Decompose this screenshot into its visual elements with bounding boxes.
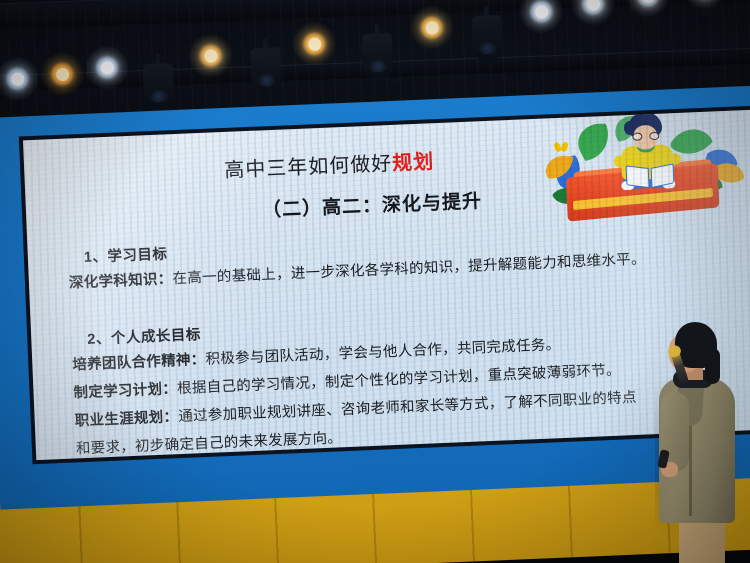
stage-light-fixture-1 (143, 63, 175, 108)
line-lead: 职业生涯规划： (74, 409, 178, 429)
line-lead: 培养团队合作精神： (72, 352, 206, 374)
presentation-slide: 高中三年如何做好规划 （二）高二：深化与提升 1、学习目标 深化学科知识：在高一… (23, 109, 750, 460)
stage-light-1 (5, 66, 30, 91)
line-lead: 制定学习计划： (73, 381, 177, 401)
glasses-icon (632, 132, 659, 141)
screen-bezel: 高中三年如何做好规划 （二）高二：深化与提升 1、学习目标 深化学科知识：在高一… (19, 104, 750, 464)
led-screen-assembly: 高中三年如何做好规划 （二）高二：深化与提升 1、学习目标 深化学科知识：在高一… (0, 85, 750, 510)
stage-light-7 (529, 0, 554, 24)
stage-light-8 (580, 0, 605, 16)
line-text: 在高一的基础上，进一步深化各学科的知识，提升解题能力和思维水平。 (172, 251, 646, 287)
led-panel: 高中三年如何做好规划 （二）高二：深化与提升 1、学习目标 深化学科知识：在高一… (23, 109, 750, 460)
line-lead: 深化学科知识： (69, 271, 173, 291)
butterfly-icon (555, 142, 568, 153)
slide-title-highlight: 规划 (392, 151, 435, 175)
stage-light-3 (94, 55, 119, 80)
stage-light-4 (198, 43, 223, 68)
auditorium-scene: 高中三年如何做好规划 （二）高二：深化与提升 1、学习目标 深化学科知识：在高一… (0, 0, 750, 563)
stage-light-fixture-2 (250, 47, 282, 92)
stage-light-9 (635, 0, 660, 8)
presenter-figure (655, 322, 750, 563)
stage-light-fixture-4 (471, 15, 503, 60)
stage-light-fixture-3 (362, 33, 394, 78)
slide-subtitle: （二）高二：深化与提升 (261, 186, 482, 222)
stage-light-5 (302, 31, 327, 56)
open-book-icon (626, 165, 675, 187)
boy-reading-illustration (519, 109, 750, 234)
section-1-heading: 1、学习目标 (83, 242, 167, 266)
stage-light-2 (50, 62, 75, 87)
section-2-heading: 2、个人成长目标 (87, 323, 201, 349)
presenter-trousers (679, 518, 725, 563)
slide-title-main: 高中三年如何做好规划 (224, 145, 435, 183)
stage-light-6 (419, 15, 444, 40)
slide-title-prefix: 高中三年如何做好 (224, 153, 393, 182)
